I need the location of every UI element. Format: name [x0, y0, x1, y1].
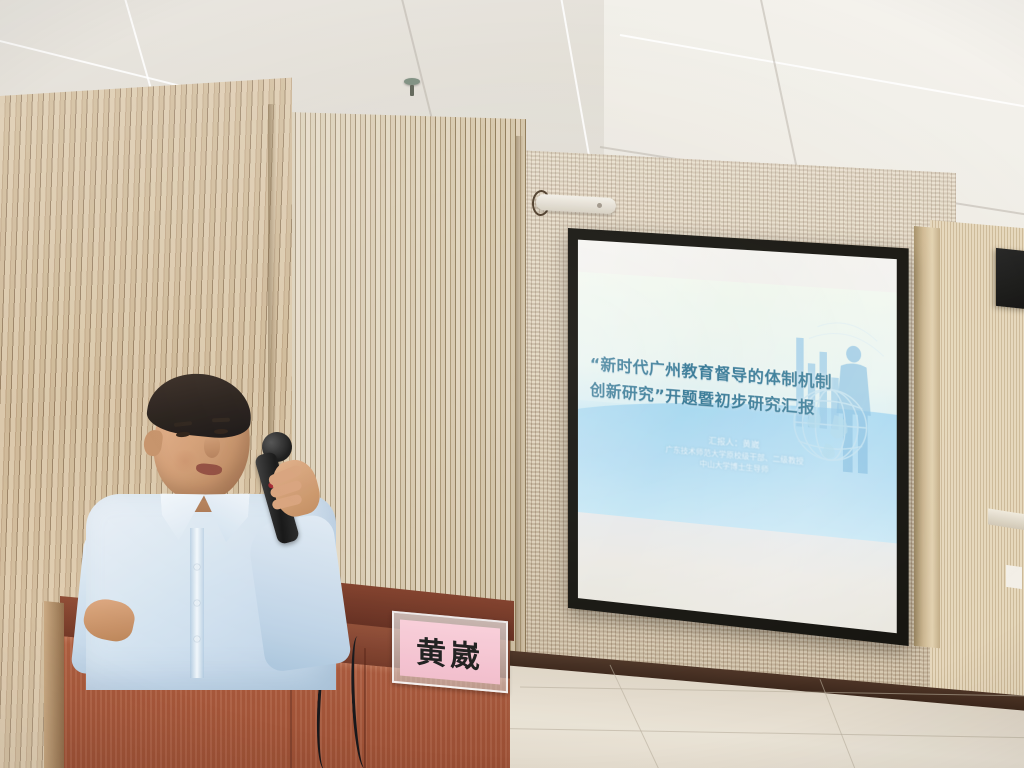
presentation-slide: “新时代广州教育督导的体制机制 创新研究”开题暨初步研究汇报 汇报人：黄崴 广东…: [578, 272, 897, 544]
name-placard: 黄崴: [400, 619, 500, 684]
name-placard-text: 黄崴: [416, 627, 484, 677]
presenter-eyebrow: [212, 418, 230, 423]
shirt-button: [194, 564, 200, 570]
wall-panel-seam: [516, 136, 523, 676]
wall-mounted-display: [996, 248, 1024, 310]
wall-fixture: [1006, 565, 1022, 589]
shirt-button: [194, 636, 200, 642]
projection-screen-surface: “新时代广州教育督导的体制机制 创新研究”开题暨初步研究汇报 汇报人：黄崴 广东…: [578, 240, 897, 634]
podium-side-edge: [44, 601, 64, 768]
shirt-button: [194, 600, 200, 606]
photo-scene: “新时代广州教育督导的体制机制 创新研究”开题暨初步研究汇报 汇报人：黄崴 广东…: [0, 0, 1024, 768]
presenter-nose: [204, 436, 220, 458]
wall-column: [914, 226, 940, 648]
projection-screen: “新时代广州教育督导的体制机制 创新研究”开题暨初步研究汇报 汇报人：黄崴 广东…: [568, 228, 909, 646]
name-placard-holder: 黄崴: [392, 611, 508, 694]
fire-sprinkler-head: [404, 78, 420, 96]
presenter: [78, 368, 348, 688]
roller-endcap-icon: [597, 203, 602, 208]
